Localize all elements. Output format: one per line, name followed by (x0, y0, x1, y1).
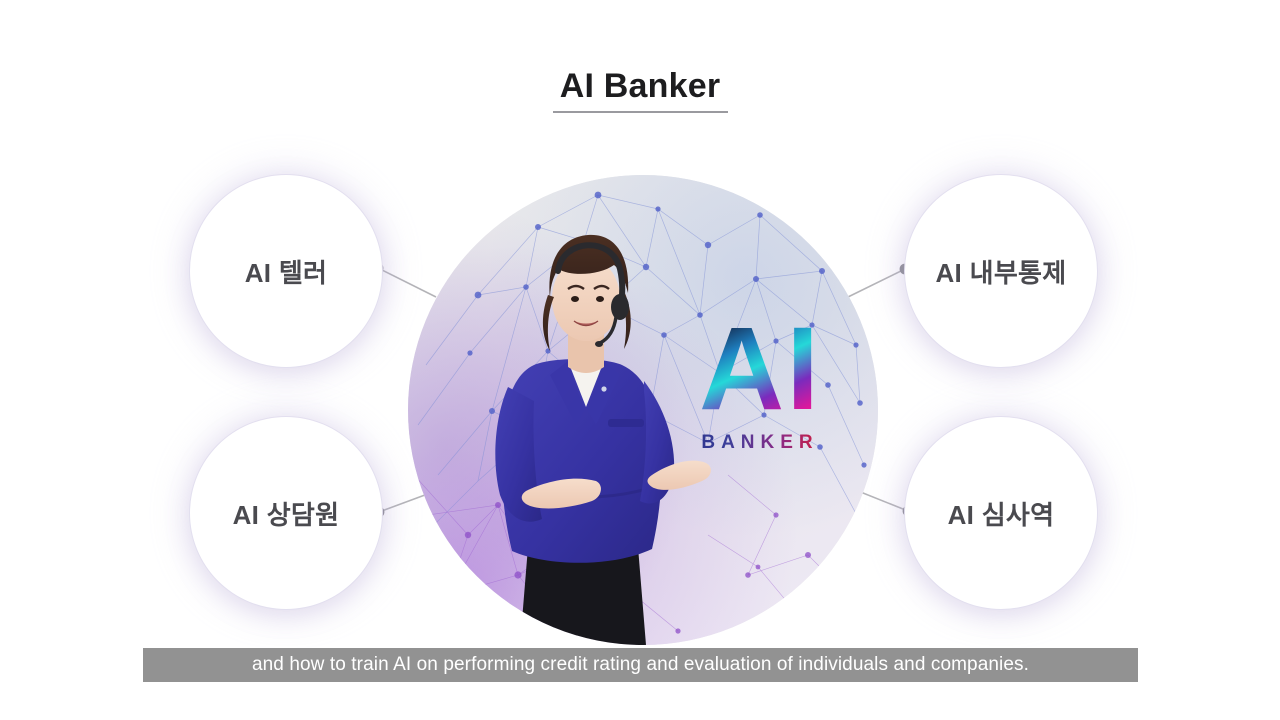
title-underline-divider (553, 111, 728, 113)
page-title-text: AI Banker (558, 64, 723, 108)
presenter-photo (408, 175, 878, 645)
node-circle-top-right[interactable]: AI 내부통제 (905, 175, 1097, 367)
page-title: AI Banker (0, 64, 1280, 108)
node-label-top-left: AI 텔러 (245, 253, 328, 290)
node-label-bottom-right: AI 심사역 (948, 495, 1055, 532)
node-circle-bottom-right[interactable]: AI 심사역 (905, 417, 1097, 609)
subtitle-caption-text: and how to train AI on performing credit… (252, 654, 1029, 676)
slide-canvas: AI Banker AI 텔러 AI 내부통제 AI 상담원 AI 심사역 (0, 0, 1280, 720)
node-circle-bottom-left[interactable]: AI 상담원 (190, 417, 382, 609)
node-label-top-right: AI 내부통제 (935, 253, 1066, 290)
hero-photo-circle: AI BANKER (408, 175, 878, 645)
node-label-bottom-left: AI 상담원 (233, 495, 340, 532)
node-circle-top-left[interactable]: AI 텔러 (190, 175, 382, 367)
subtitle-caption-bar: and how to train AI on performing credit… (143, 648, 1138, 682)
